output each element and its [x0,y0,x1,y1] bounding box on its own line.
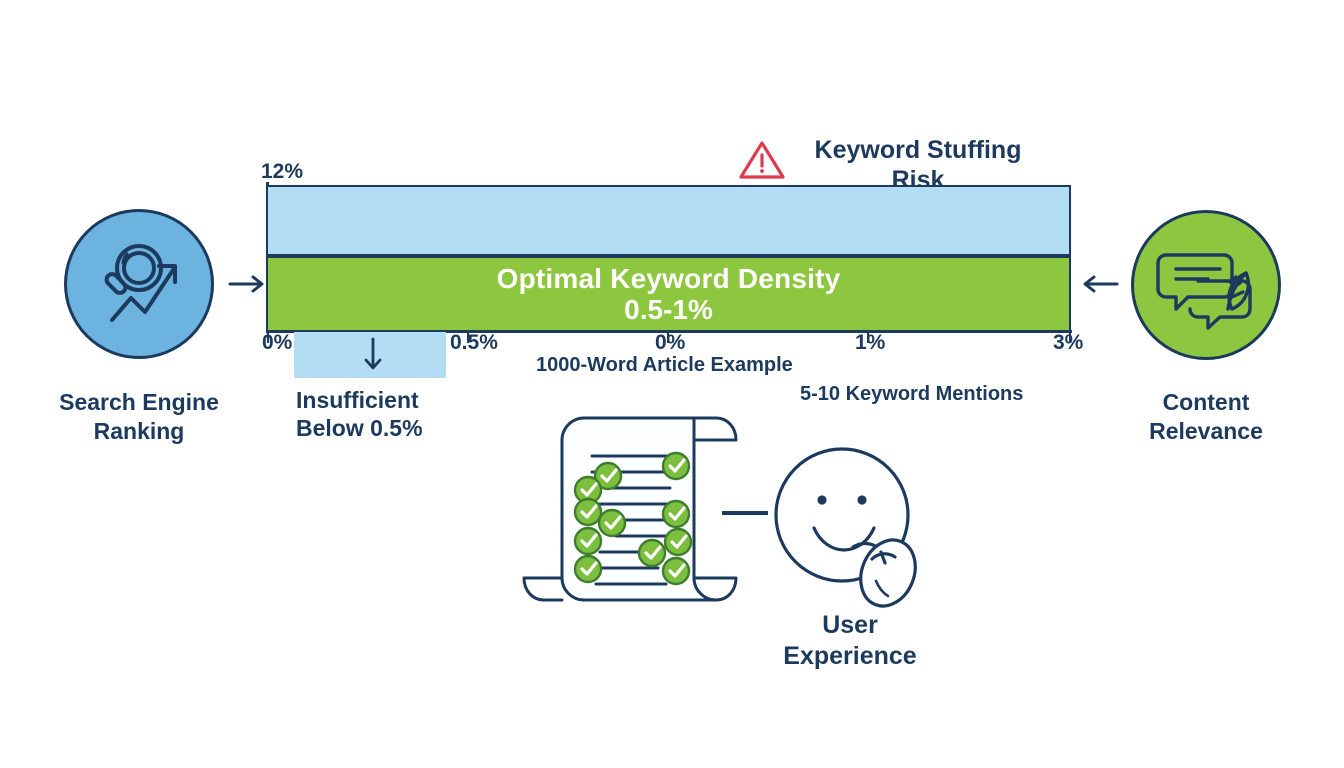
x-tick-label-1: 0.5% [450,331,498,355]
x-tick-label-2: 0% [655,331,685,355]
x-tick-label-0: 0% [262,331,292,355]
caption-keyword-mentions: 5-10 Keyword Mentions [800,383,1023,406]
axis-top-value-label: 12% [261,160,303,184]
node-user-experience-label: User Experience [730,610,970,673]
keyword-density-bar-chart: 12% Optimal Keyword Density 0.5-1% 0% 0.… [0,0,1344,768]
band-keyword-stuffing-risk[interactable] [266,185,1071,256]
optimal-density-range: 0.5-1% [624,294,713,325]
x-tick-label-4: 3% [1053,331,1083,355]
caption-article-example: 1000-Word Article Example [536,354,793,377]
smiley-mouse-icon[interactable] [768,443,928,609]
x-tick-label-3: 1% [855,331,885,355]
checklist-scroll-icon[interactable] [500,410,740,625]
band-optimal-keyword-density[interactable]: Optimal Keyword Density 0.5-1% [266,256,1071,332]
infographic-canvas: Search Engine Ranking Content Relevance [0,0,1344,768]
insufficient-label: Insufficient Below 0.5% [296,386,516,442]
down-arrow-icon [362,337,384,375]
optimal-density-title: Optimal Keyword Density [497,263,841,294]
connector-scroll-to-smiley [722,511,768,515]
